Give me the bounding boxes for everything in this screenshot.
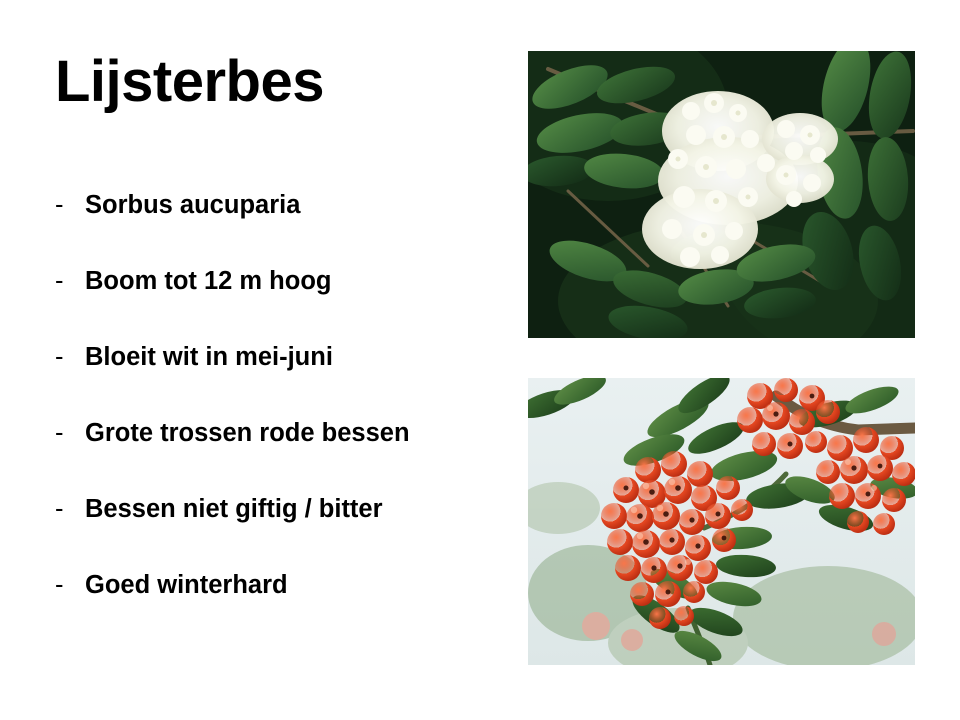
list-item: - Grote trossen rode bessen xyxy=(55,418,495,494)
bullet-list: - Sorbus aucuparia - Boom tot 12 m hoog … xyxy=(55,190,495,646)
list-item-label: Goed winterhard xyxy=(85,570,288,600)
bullet-marker-icon: - xyxy=(55,266,85,296)
list-item-label: Sorbus aucuparia xyxy=(85,190,300,220)
bullet-marker-icon: - xyxy=(55,494,85,524)
list-item-label: Bloeit wit in mei-juni xyxy=(85,342,333,372)
rowan-berries-illustration xyxy=(528,378,915,665)
list-item: - Goed winterhard xyxy=(55,570,495,646)
list-item-label: Bessen niet giftig / bitter xyxy=(85,494,383,524)
list-item-label: Grote trossen rode bessen xyxy=(85,418,410,448)
list-item: - Boom tot 12 m hoog xyxy=(55,266,495,342)
rowan-flowers-photo xyxy=(528,51,915,338)
list-item: - Bloeit wit in mei-juni xyxy=(55,342,495,418)
page-title: Lijsterbes xyxy=(55,52,324,113)
rowan-flowers-illustration xyxy=(528,51,915,338)
slide-canvas: Lijsterbes - Sorbus aucuparia - Boom tot… xyxy=(0,0,960,720)
bullet-marker-icon: - xyxy=(55,190,85,220)
bullet-marker-icon: - xyxy=(55,570,85,600)
bullet-marker-icon: - xyxy=(55,342,85,372)
rowan-berries-photo xyxy=(528,378,915,665)
bullet-marker-icon: - xyxy=(55,418,85,448)
list-item: - Sorbus aucuparia xyxy=(55,190,495,266)
list-item-label: Boom tot 12 m hoog xyxy=(85,266,331,296)
list-item: - Bessen niet giftig / bitter xyxy=(55,494,495,570)
